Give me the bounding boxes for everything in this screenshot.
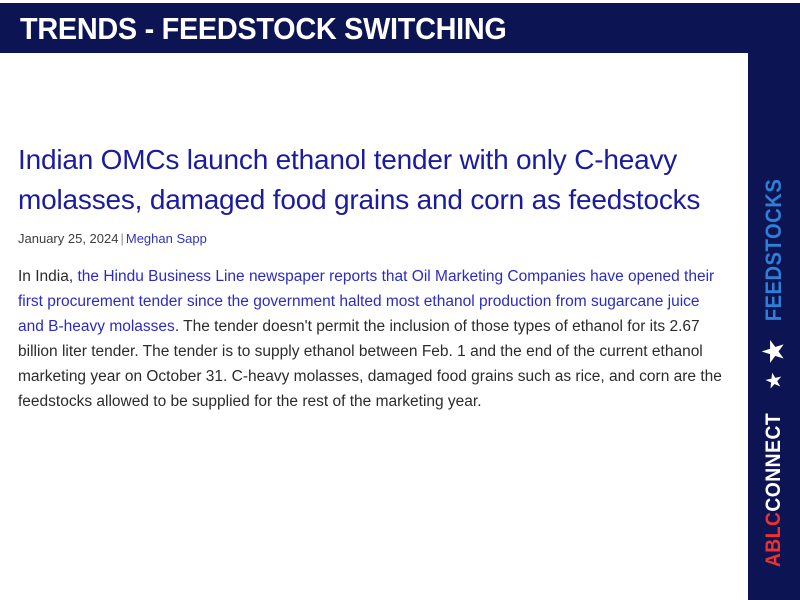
top-hairline [0, 0, 800, 3]
brand-ablc-text: ABLC [762, 512, 785, 568]
article-headline: Indian OMCs launch ethanol tender with o… [18, 140, 730, 220]
brand-connect-text: CONNECT [762, 413, 785, 512]
header-banner: TRENDS - FEEDSTOCK SWITCHING [0, 3, 800, 53]
sidebar-rail: FEEDSTOCKS ★ ★ ABLCCONNECT [748, 0, 800, 600]
byline-date: January 25, 2024 [18, 231, 118, 246]
header-title: TRENDS - FEEDSTOCK SWITCHING [20, 8, 507, 50]
body-lead-text: In India, [18, 268, 77, 285]
slide-root: TRENDS - FEEDSTOCK SWITCHING Indian OMCs… [0, 0, 800, 600]
star-icon-small: ★ [763, 369, 786, 393]
sidebar-category-label: FEEDSTOCKS [761, 179, 787, 322]
article-byline: January 25, 2024|Meghan Sapp [18, 230, 730, 248]
sidebar-brand-lockup: ABLCCONNECT [762, 413, 786, 567]
byline-author-link[interactable]: Meghan Sapp [126, 231, 207, 246]
article-body: In India, the Hindu Business Line newspa… [18, 264, 723, 414]
star-icon-large: ★ [757, 334, 792, 371]
byline-separator: | [118, 231, 125, 246]
sidebar-rail-inner: FEEDSTOCKS ★ ★ ABLCCONNECT [748, 0, 800, 600]
article-block: Indian OMCs launch ethanol tender with o… [18, 140, 730, 414]
